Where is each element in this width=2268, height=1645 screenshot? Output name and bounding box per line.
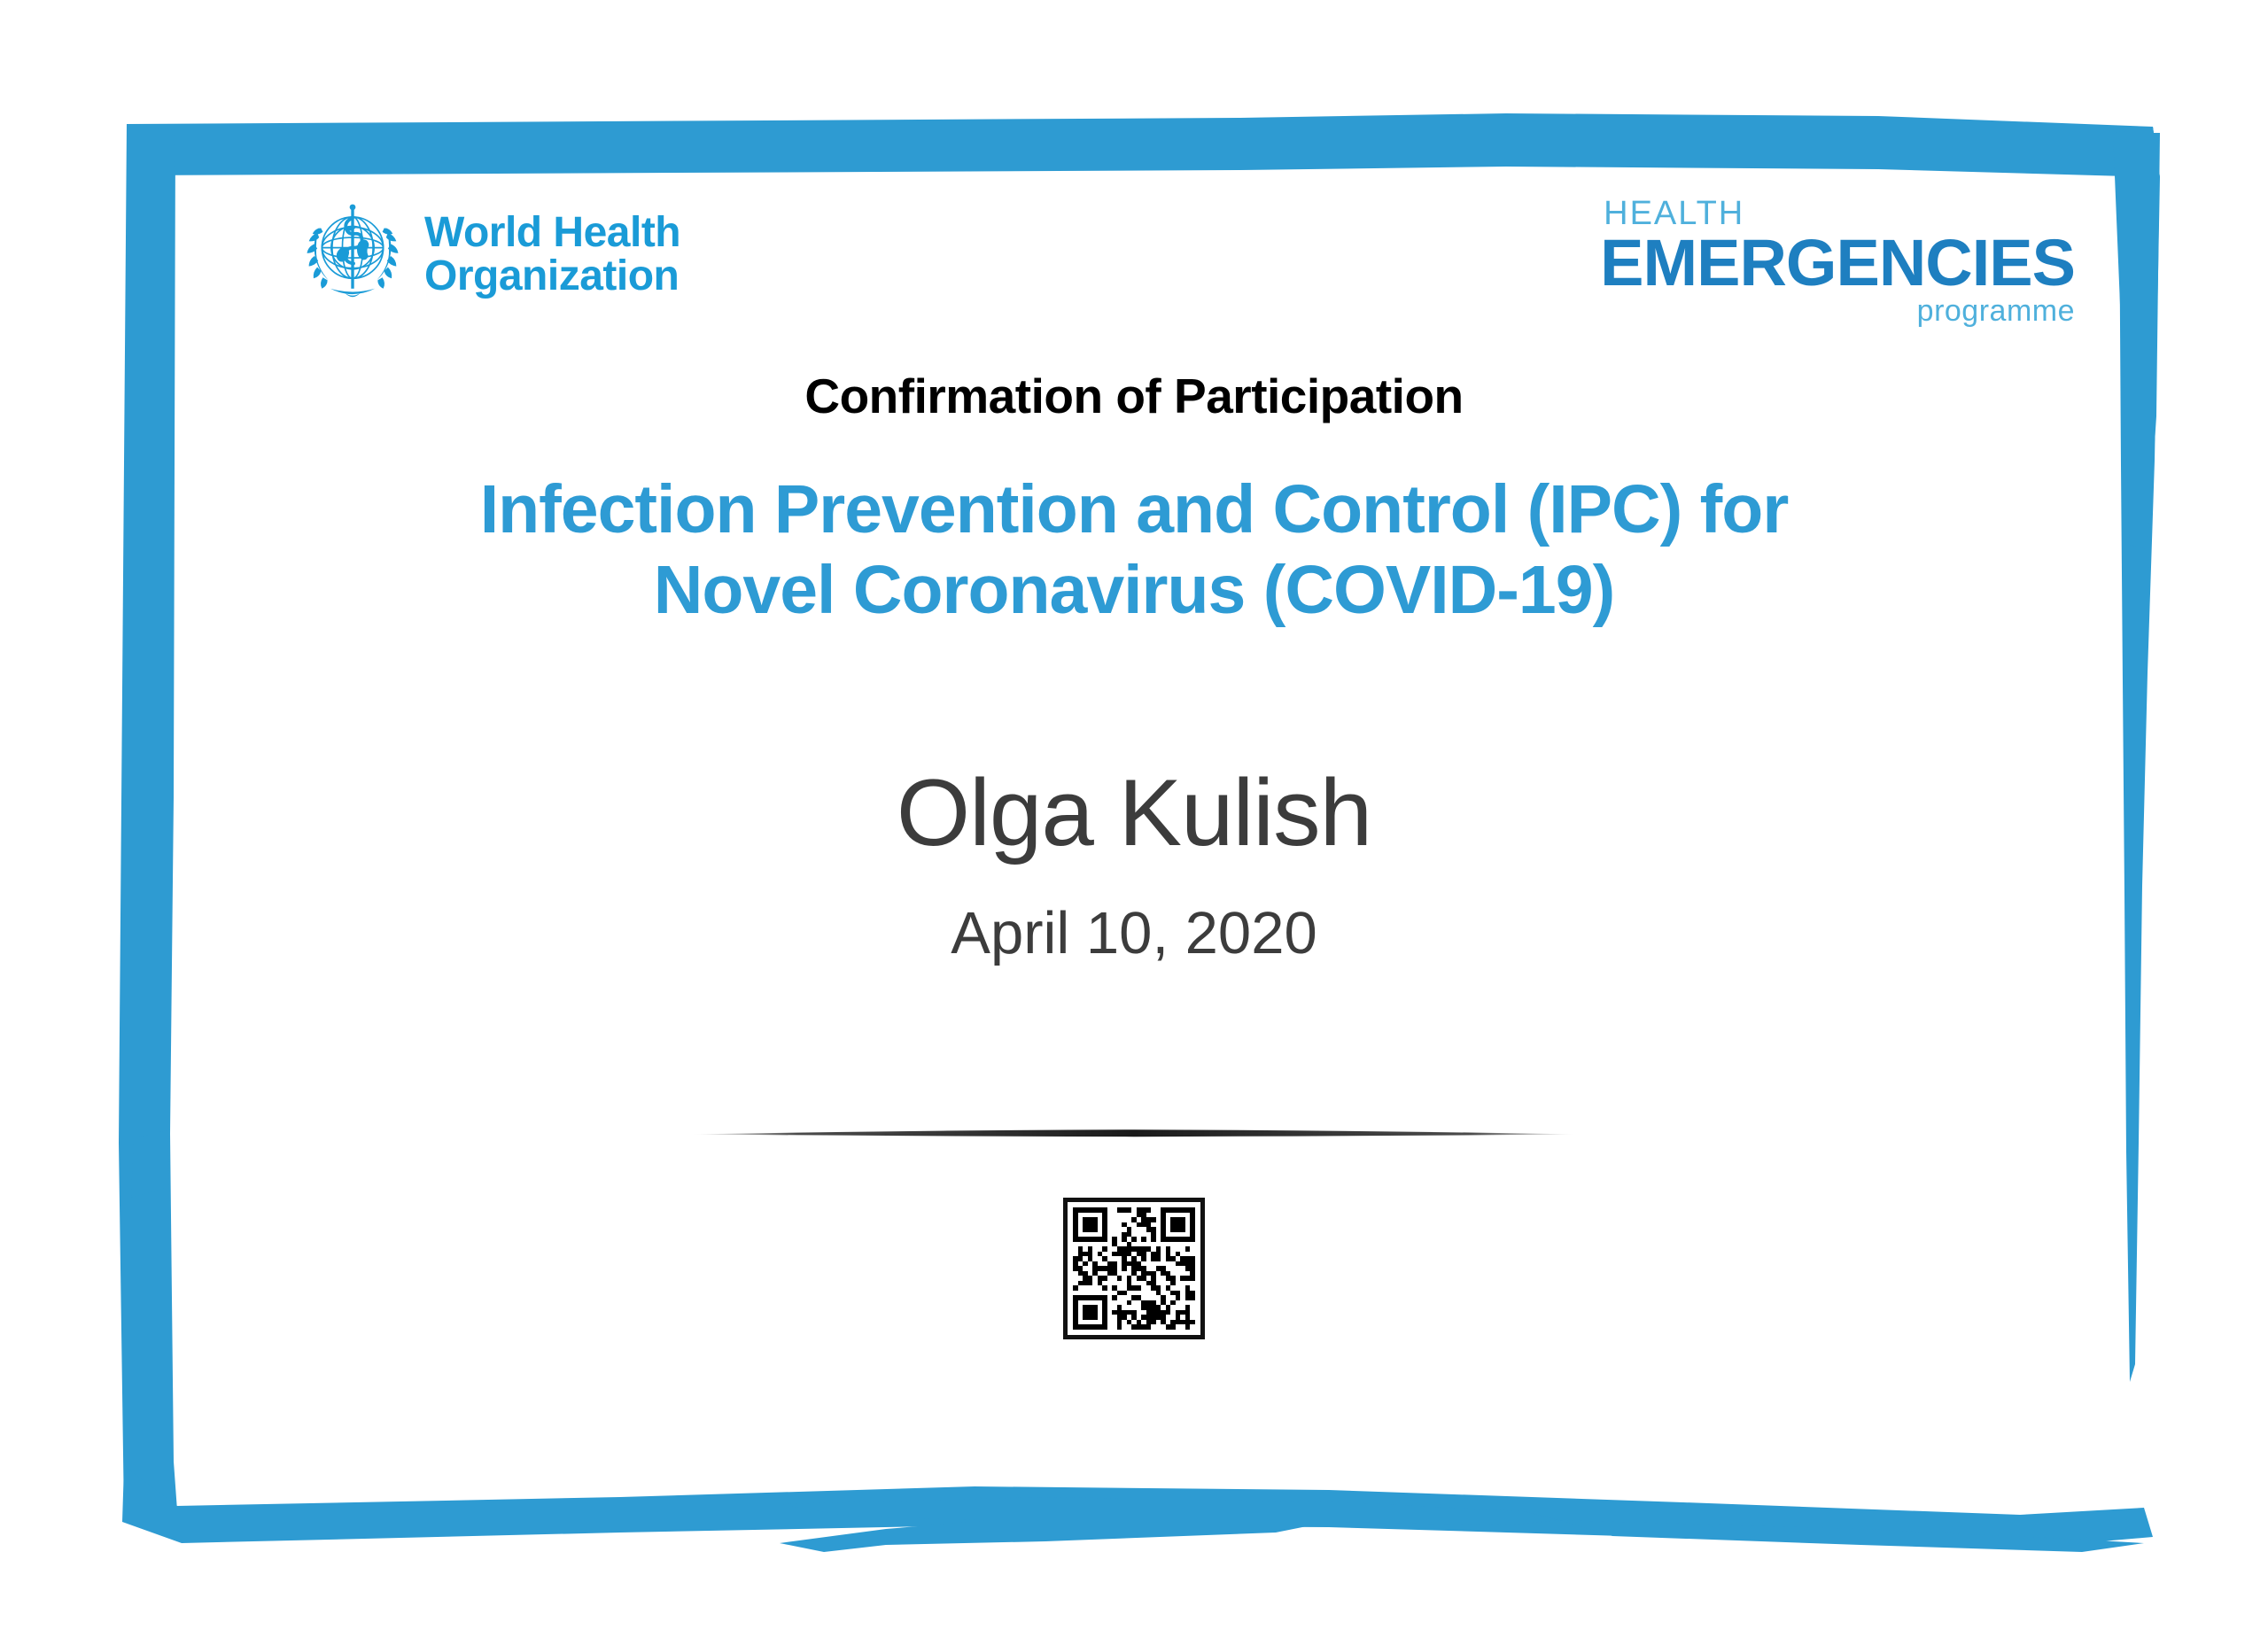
logo-row: World Health Organization HEALTH EMERGEN… [177, 142, 2091, 292]
he-logo-emergencies: EMERGENCIES [1600, 232, 2075, 294]
course-title: Infection Prevention and Control (IPC) f… [177, 469, 2091, 631]
qr-code[interactable] [1063, 1198, 1205, 1339]
course-title-line2: Novel Coronavirus (COVID-19) [177, 550, 2091, 631]
he-logo-programme: programme [1600, 296, 2075, 326]
health-emergencies-logo: HEALTH EMERGENCIES programme [1600, 197, 2075, 326]
course-title-line1: Infection Prevention and Control (IPC) f… [480, 471, 1789, 547]
who-emblem-icon [297, 199, 408, 311]
who-logo: World Health Organization [297, 199, 680, 311]
confirmation-heading: Confirmation of Participation [177, 368, 2091, 424]
certificate-page: World Health Organization HEALTH EMERGEN… [0, 0, 2268, 1645]
who-wordmark-line1: World Health [424, 212, 680, 255]
who-wordmark: World Health Organization [424, 212, 680, 299]
qr-code-area [177, 1198, 2091, 1339]
tapered-divider-icon [691, 1121, 1577, 1147]
completion-date: April 10, 2020 [177, 899, 2091, 967]
who-wordmark-line2: Organization [424, 255, 680, 299]
qr-code-modules [1073, 1207, 1195, 1330]
divider [691, 1121, 1577, 1147]
recipient-name: Olga Kulish [177, 757, 2091, 867]
certificate-content: World Health Organization HEALTH EMERGEN… [177, 142, 2091, 1453]
